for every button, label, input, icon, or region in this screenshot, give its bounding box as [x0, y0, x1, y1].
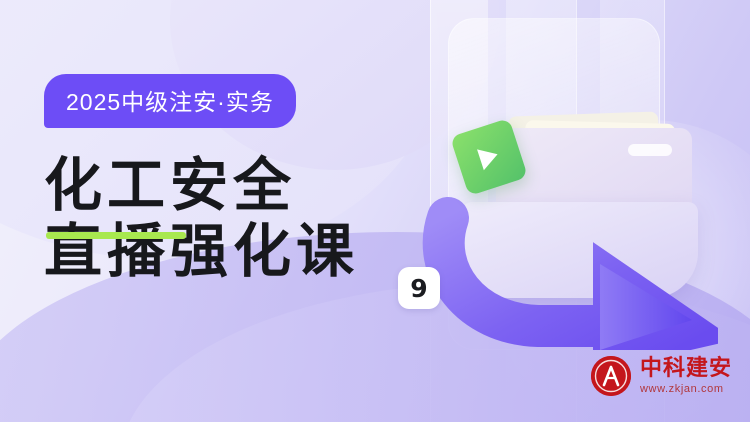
page-title-line-1: 化工安全 — [44, 151, 296, 219]
folder-tab-icon — [628, 144, 672, 156]
page-title-line-2: 直播强化课 — [44, 218, 359, 284]
logo-name: 中科建安 — [640, 358, 732, 380]
title-underline — [46, 232, 186, 239]
folder-illustration — [400, 90, 740, 350]
episode-badge: 9 — [398, 267, 440, 309]
curved-arrow-icon — [418, 160, 718, 350]
course-tagline: 2025中级注安·实务 — [44, 74, 296, 128]
logo-text: 中科建安 www.zkjan.com — [640, 358, 732, 395]
course-banner: 2025中级注安·实务 化工安全 直播强化课 9 中科建安 www.zkjan.… — [0, 0, 750, 422]
logo-mark-icon — [591, 356, 631, 396]
page-title: 化工安全 直播强化课 — [44, 152, 359, 284]
brand-logo: 中科建安 www.zkjan.com — [591, 356, 732, 396]
logo-url: www.zkjan.com — [640, 384, 732, 395]
